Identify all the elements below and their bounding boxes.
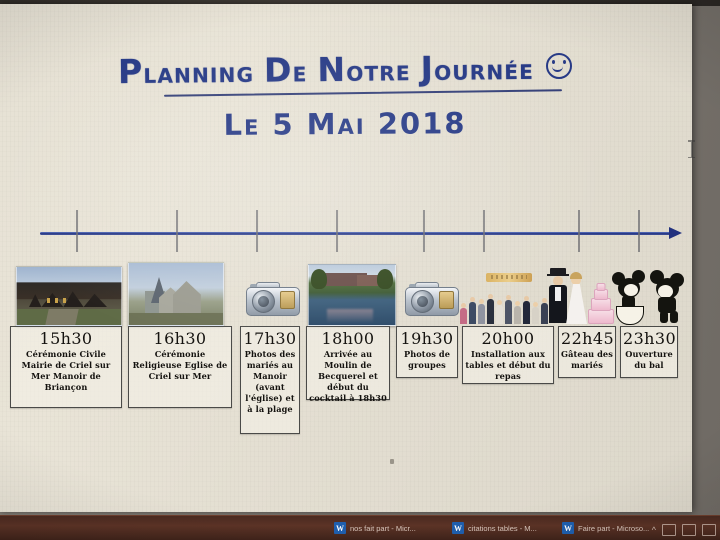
battery-icon[interactable]: [662, 524, 676, 536]
schedule-desc: Photos des mariés au Manoir (avant l'égl…: [243, 349, 297, 414]
taskbar-item-label: citations tables - M...: [468, 524, 537, 533]
taskbar-item-label: nos fait part - Micr...: [350, 524, 416, 533]
schedule-box: 22h45 Gâteau des mariés: [558, 326, 616, 378]
timeline-tick: [423, 210, 425, 252]
chevron-up-icon[interactable]: ^: [652, 525, 656, 535]
taskbar-item[interactable]: W citations tables - M...: [452, 518, 560, 538]
schedule-box: 17h30 Photos des mariés au Manoir (avant…: [240, 326, 300, 434]
timeline-axis: [40, 232, 680, 235]
timeline-tick: [176, 210, 178, 252]
schedule-hour: 22h45: [561, 330, 613, 348]
volume-icon[interactable]: [702, 524, 716, 536]
schedule-hour: 19h30: [399, 330, 455, 348]
smiley-face-icon: [546, 53, 572, 79]
word-icon: W: [562, 522, 574, 534]
schedule-hour: 20h00: [465, 330, 551, 348]
timeline-tick: [483, 210, 485, 252]
page-title-wrap: PLANNING DE NOTRE JOURNÉE: [0, 50, 692, 89]
schedule-desc: Cérémonie Religieuse Eglise de Criel sur…: [131, 349, 229, 382]
schedule-box: 23h30 Ouverture du bal: [620, 326, 678, 378]
page-speck: [390, 459, 394, 464]
schedule-desc: Cérémonie Civile Mairie de Criel sur Mer…: [13, 349, 119, 393]
timeline-tick: [256, 210, 258, 252]
schedule-desc: Arrivée au Moulin de Becquerel et début …: [309, 349, 387, 404]
i-beam-cursor: [688, 140, 695, 158]
schedule-hour: 16h30: [131, 330, 229, 348]
timeline-tick: [76, 210, 78, 252]
page-title: PLANNING DE NOTRE JOURNÉE: [118, 48, 534, 91]
schedule-hour: 23h30: [623, 330, 675, 348]
camera-clipart-2: [403, 278, 459, 320]
timeline-arrow-icon: [669, 227, 682, 239]
schedule-hour: 17h30: [243, 330, 297, 348]
schedule-box: 16h30 Cérémonie Religieuse Eglise de Cri…: [128, 326, 232, 408]
schedule-box: 18h00 Arrivée au Moulin de Becquerel et …: [306, 326, 390, 400]
schedule-desc: Gâteau des mariés: [561, 349, 613, 371]
word-icon: W: [452, 522, 464, 534]
system-tray[interactable]: ^: [652, 524, 716, 536]
schedule-hour: 18h00: [309, 330, 387, 348]
illustration-strip: [0, 250, 692, 326]
windows-taskbar[interactable]: W nos fait part - Micr... W citations ta…: [0, 515, 720, 540]
taskbar-item-label: Faire part - Microso...: [578, 524, 649, 533]
schedule-desc: Ouverture du bal: [623, 349, 675, 371]
word-icon: W: [334, 522, 346, 534]
title-underline: [164, 89, 562, 97]
schedule-boxes: 15h30 Cérémonie Civile Mairie de Criel s…: [0, 326, 692, 456]
manor-photo: [16, 266, 122, 326]
schedule-hour: 15h30: [13, 330, 119, 348]
moulin-pond-photo: [308, 264, 396, 326]
page-subtitle: LE 5 MAI 2018: [0, 105, 692, 144]
timeline-tick: [578, 210, 580, 252]
crowd-clipart: [458, 274, 554, 324]
timeline-tick: [336, 210, 338, 252]
mickey-minnie-clipart: [612, 268, 686, 326]
schedule-box: 20h00 Installation aux tables et début d…: [462, 326, 554, 384]
schedule-box: 19h30 Photos de groupes: [396, 326, 458, 378]
screenshot-root: PLANNING DE NOTRE JOURNÉE LE 5 MAI 2018: [0, 0, 720, 540]
timeline-tick: [638, 210, 640, 252]
camera-clipart: [244, 278, 300, 320]
bride-groom-cake-clipart: [544, 268, 616, 326]
document-page: PLANNING DE NOTRE JOURNÉE LE 5 MAI 2018: [0, 4, 692, 512]
church-photo: [128, 262, 224, 326]
schedule-box: 15h30 Cérémonie Civile Mairie de Criel s…: [10, 326, 122, 408]
schedule-desc: Photos de groupes: [399, 349, 455, 371]
network-icon[interactable]: [682, 524, 696, 536]
schedule-desc: Installation aux tables et début du repa…: [465, 349, 551, 382]
taskbar-item[interactable]: W nos fait part - Micr...: [334, 518, 446, 538]
